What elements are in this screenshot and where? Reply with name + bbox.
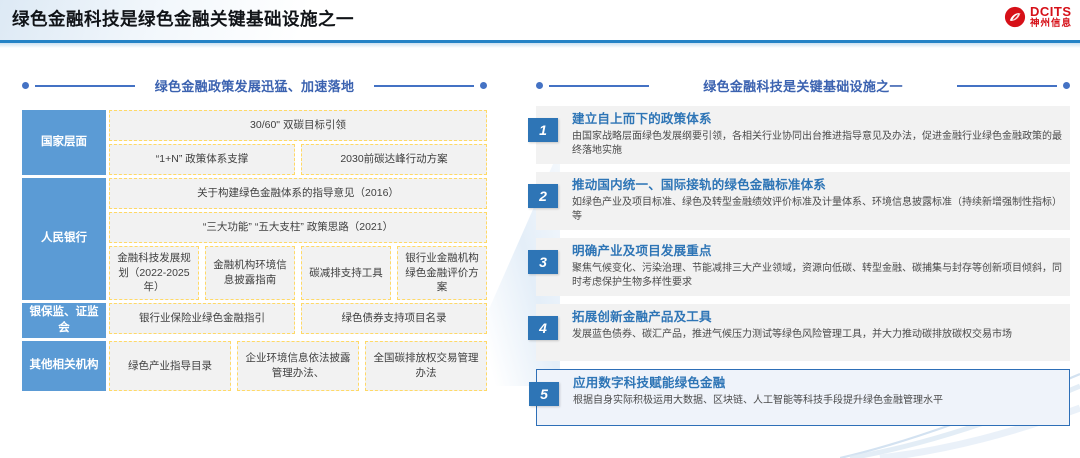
right-section-heading: 绿色金融科技是关键基础设施之一 bbox=[536, 76, 1070, 95]
policy-cell-group: 银行业保险业绿色金融指引绿色债券支持项目名录 bbox=[109, 303, 487, 334]
heading-bar-right-start bbox=[549, 85, 649, 87]
policy-table-row: 其他相关机构绿色产业指导目录企业环境信息依法披露管理办法、全国碳排放权交易管理办… bbox=[22, 341, 487, 391]
heading-dot-left-end bbox=[480, 82, 487, 89]
policy-cell[interactable]: 30/60" 双碳目标引领 bbox=[109, 110, 487, 141]
heading-bar-left-end bbox=[374, 85, 474, 87]
logo-text-en: DCITS bbox=[1030, 5, 1072, 18]
heading-dot-left-start bbox=[22, 82, 29, 89]
policy-table-row: 银保监、证监会银行业保险业绿色金融指引绿色债券支持项目名录 bbox=[22, 303, 487, 338]
policy-table: 国家层面30/60" 双碳目标引领“1+N” 政策体系支撑2030前碳达峰行动方… bbox=[22, 110, 487, 394]
policy-cell[interactable]: 金融科技发展规划（2022-2025年） bbox=[109, 246, 199, 300]
heading-dot-right-end bbox=[1063, 82, 1070, 89]
key-point-title: 拓展创新金融产品及工具 bbox=[572, 309, 1012, 326]
key-point-text-block: 拓展创新金融产品及工具发展蓝色债券、碳汇产品，推进气候压力测试等绿色风险管理工具… bbox=[572, 309, 1012, 342]
policy-row-label: 人民银行 bbox=[22, 178, 106, 300]
policy-row-label: 银保监、证监会 bbox=[22, 303, 106, 338]
heading-bar-left-start bbox=[35, 85, 135, 87]
key-point-description: 发展蓝色债券、碳汇产品，推进气候压力测试等绿色风险管理工具，并大力推动碳排放碳权… bbox=[572, 328, 1012, 343]
key-point-description: 如绿色产业及项目标准、绿色及转型金融绩效评价标准及计量体系、环境信息披露标准（持… bbox=[572, 196, 1062, 225]
policy-table-row: 国家层面30/60" 双碳目标引领“1+N” 政策体系支撑2030前碳达峰行动方… bbox=[22, 110, 487, 175]
key-point-title: 建立自上而下的政策体系 bbox=[572, 111, 1062, 128]
key-point-item[interactable]: 2推动国内统一、国际接轨的绿色金融标准体系如绿色产业及项目标准、绿色及转型金融绩… bbox=[536, 172, 1070, 230]
key-point-item[interactable]: 5应用数字科技赋能绿色金融根据自身实际积极运用大数据、区块链、人工智能等科技手段… bbox=[536, 369, 1070, 426]
key-point-text-block: 应用数字科技赋能绿色金融根据自身实际积极运用大数据、区块链、人工智能等科技手段提… bbox=[573, 375, 943, 408]
right-section-heading-label: 绿色金融科技是关键基础设施之一 bbox=[703, 76, 903, 95]
policy-cell[interactable]: 2030前碳达峰行动方案 bbox=[301, 144, 487, 175]
key-points-list: 1建立自上而下的政策体系由国家战略层面绿色发展纲要引领，各相关行业协同出台推进指… bbox=[536, 106, 1070, 434]
policy-cell[interactable]: 绿色产业指导目录 bbox=[109, 341, 231, 391]
policy-cell[interactable]: 全国碳排放权交易管理办法 bbox=[365, 341, 487, 391]
policy-cell[interactable]: 银行业保险业绿色金融指引 bbox=[109, 303, 295, 334]
key-point-item[interactable]: 1建立自上而下的政策体系由国家战略层面绿色发展纲要引领，各相关行业协同出台推进指… bbox=[536, 106, 1070, 164]
policy-row-body: 30/60" 双碳目标引领“1+N” 政策体系支撑2030前碳达峰行动方案 bbox=[109, 110, 487, 175]
key-point-title: 明确产业及项目发展重点 bbox=[572, 243, 1062, 260]
policy-row-body: 绿色产业指导目录企业环境信息依法披露管理办法、全国碳排放权交易管理办法 bbox=[109, 341, 487, 391]
brand-logo: DCITS 神州信息 bbox=[1004, 5, 1072, 29]
slide-header: 绿色金融科技是绿色金融关键基础设施之一 DCITS 神州信息 bbox=[0, 0, 1080, 46]
policy-cell[interactable]: 绿色债券支持项目名录 bbox=[301, 303, 487, 334]
key-point-text-block: 推动国内统一、国际接轨的绿色金融标准体系如绿色产业及项目标准、绿色及转型金融绩效… bbox=[572, 177, 1062, 225]
policy-cell[interactable]: 金融机构环境信息披露指南 bbox=[205, 246, 295, 300]
policy-cell[interactable]: “1+N” 政策体系支撑 bbox=[109, 144, 295, 175]
key-point-title: 应用数字科技赋能绿色金融 bbox=[573, 375, 943, 392]
policy-cell[interactable]: 碳减排支持工具 bbox=[301, 246, 391, 300]
policy-row-label: 其他相关机构 bbox=[22, 341, 106, 391]
policy-cell[interactable]: “三大功能” “五大支柱” 政策思路（2021） bbox=[109, 212, 487, 243]
page-title: 绿色金融科技是绿色金融关键基础设施之一 bbox=[12, 6, 354, 31]
policy-cell-group: 金融科技发展规划（2022-2025年）金融机构环境信息披露指南碳减排支持工具银… bbox=[109, 246, 487, 300]
left-section-heading-label: 绿色金融政策发展迅猛、加速落地 bbox=[155, 76, 355, 95]
key-point-number-badge: 2 bbox=[528, 184, 558, 208]
key-point-title: 推动国内统一、国际接轨的绿色金融标准体系 bbox=[572, 177, 1062, 194]
policy-cell-group: 30/60" 双碳目标引领 bbox=[109, 110, 487, 141]
key-point-number-badge: 4 bbox=[528, 316, 558, 340]
key-point-text-block: 明确产业及项目发展重点聚焦气候变化、污染治理、节能减排三大产业领域，资源向低碳、… bbox=[572, 243, 1062, 291]
policy-table-row: 人民银行关于构建绿色金融体系的指导意见（2016）“三大功能” “五大支柱” 政… bbox=[22, 178, 487, 300]
heading-dot-right-start bbox=[536, 82, 543, 89]
left-section-heading: 绿色金融政策发展迅猛、加速落地 bbox=[22, 76, 487, 95]
policy-row-label: 国家层面 bbox=[22, 110, 106, 175]
title-divider-glow bbox=[0, 43, 1080, 48]
key-point-description: 由国家战略层面绿色发展纲要引领，各相关行业协同出台推进指导意见及办法，促进金融行… bbox=[572, 130, 1062, 159]
key-point-number-badge: 3 bbox=[528, 250, 558, 274]
key-point-description: 根据自身实际积极运用大数据、区块链、人工智能等科技手段提升绿色金融管理水平 bbox=[573, 394, 943, 409]
heading-bar-right-end bbox=[957, 85, 1057, 87]
logo-text-cn: 神州信息 bbox=[1030, 19, 1072, 29]
policy-row-body: 关于构建绿色金融体系的指导意见（2016）“三大功能” “五大支柱” 政策思路（… bbox=[109, 178, 487, 300]
policy-cell[interactable]: 银行业金融机构绿色金融评价方案 bbox=[397, 246, 487, 300]
key-point-item[interactable]: 4拓展创新金融产品及工具发展蓝色债券、碳汇产品，推进气候压力测试等绿色风险管理工… bbox=[536, 304, 1070, 361]
policy-cell-group: 绿色产业指导目录企业环境信息依法披露管理办法、全国碳排放权交易管理办法 bbox=[109, 341, 487, 391]
policy-cell[interactable]: 企业环境信息依法披露管理办法、 bbox=[237, 341, 359, 391]
dcits-swirl-logo-icon bbox=[1004, 6, 1026, 28]
key-point-text-block: 建立自上而下的政策体系由国家战略层面绿色发展纲要引领，各相关行业协同出台推进指导… bbox=[572, 111, 1062, 159]
key-point-item[interactable]: 3明确产业及项目发展重点聚焦气候变化、污染治理、节能减排三大产业领域，资源向低碳… bbox=[536, 238, 1070, 296]
policy-cell-group: “1+N” 政策体系支撑2030前碳达峰行动方案 bbox=[109, 144, 487, 175]
policy-cell-group: 关于构建绿色金融体系的指导意见（2016） bbox=[109, 178, 487, 209]
policy-row-body: 银行业保险业绿色金融指引绿色债券支持项目名录 bbox=[109, 303, 487, 338]
key-point-number-badge: 5 bbox=[529, 382, 559, 406]
policy-cell[interactable]: 关于构建绿色金融体系的指导意见（2016） bbox=[109, 178, 487, 209]
policy-cell-group: “三大功能” “五大支柱” 政策思路（2021） bbox=[109, 212, 487, 243]
key-point-number-badge: 1 bbox=[528, 118, 558, 142]
slide-canvas: 绿色金融科技是绿色金融关键基础设施之一 DCITS 神州信息 绿色金融政策发展迅… bbox=[0, 0, 1080, 458]
key-point-description: 聚焦气候变化、污染治理、节能减排三大产业领域，资源向低碳、转型金融、碳捕集与封存… bbox=[572, 262, 1062, 291]
